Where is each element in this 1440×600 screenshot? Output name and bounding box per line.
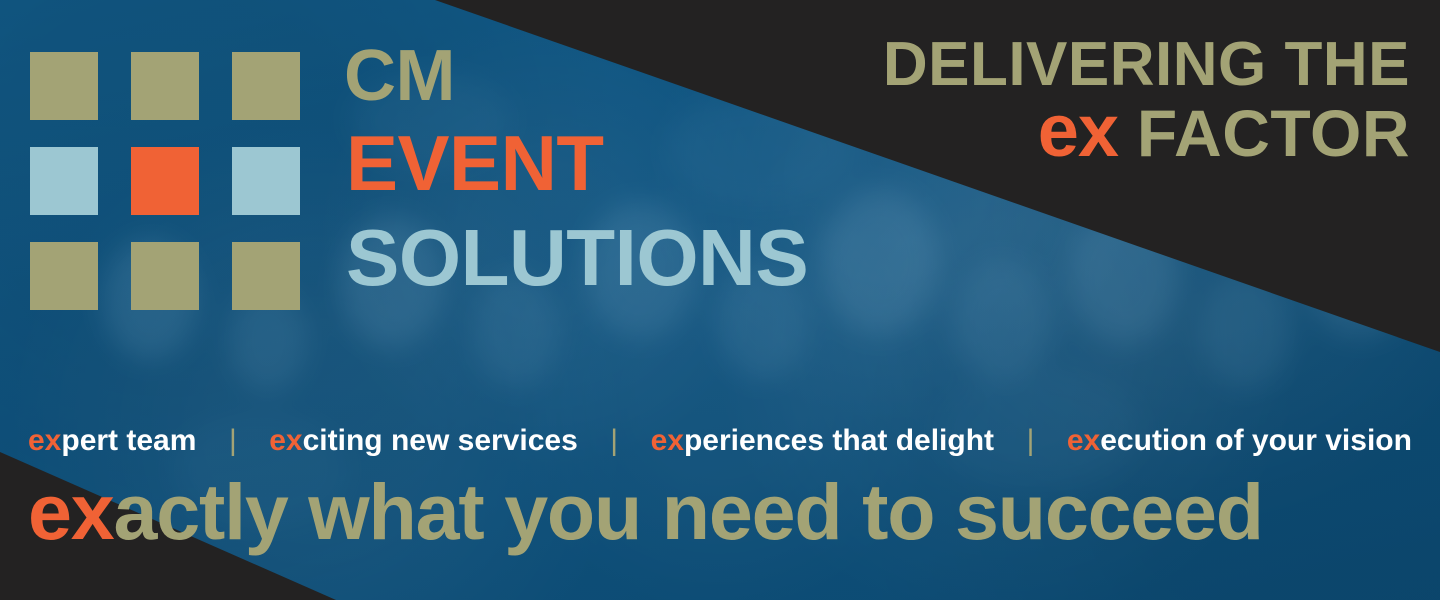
tagline-text-2: citing new services <box>303 424 578 457</box>
headline-exactly-what-you-need-to-succeed: exactly what you need to succeed <box>28 472 1263 551</box>
banner-root: CM EVENT SOLUTIONS DELIVERING THE ex FAC… <box>0 0 1440 600</box>
headline-ex-highlight: ex <box>1038 89 1118 172</box>
tagline-ex-highlight-1: ex <box>28 424 61 457</box>
tagline-separator-3: | <box>1023 424 1039 458</box>
logo-square-r2c2 <box>232 242 300 310</box>
logo-square-r2c0 <box>30 242 98 310</box>
tagline-text-1: pert team <box>61 424 196 457</box>
logo-square-r1c2 <box>232 147 300 215</box>
tagline-item-experiences-that-delight: experiences that delight <box>651 424 994 458</box>
logo-text-event: EVENT <box>346 116 808 210</box>
logo-square-r0c0 <box>30 52 98 120</box>
logo-square-r1c0 <box>30 147 98 215</box>
tagline-text-3: periences that delight <box>684 424 994 457</box>
headline-line-2: ex FACTOR <box>883 99 1410 163</box>
logo-wordmark: CM EVENT SOLUTIONS <box>318 36 808 306</box>
tagline-strip: expert team | exciting new services | ex… <box>28 424 1412 458</box>
logo[interactable]: CM EVENT SOLUTIONS <box>30 52 860 322</box>
logo-square-r2c1 <box>131 242 199 310</box>
logo-square-r0c1 <box>131 52 199 120</box>
logo-square-r1c1 <box>131 147 199 215</box>
logo-text-solutions: SOLUTIONS <box>346 210 808 306</box>
bottom-headline-ex-highlight: ex <box>28 467 113 556</box>
headline-factor-text: FACTOR <box>1118 96 1410 170</box>
tagline-separator-2: | <box>606 424 622 458</box>
tagline-item-exciting-new-services: exciting new services <box>269 424 578 458</box>
logo-square-r0c2 <box>232 52 300 120</box>
tagline-ex-highlight-2: ex <box>269 424 302 457</box>
logo-text-cm: CM <box>344 36 808 116</box>
bottom-headline-text: actly what you need to succeed <box>113 467 1262 556</box>
tagline-ex-highlight-3: ex <box>651 424 684 457</box>
headline-delivering-the-ex-factor: DELIVERING THE ex FACTOR <box>883 38 1410 163</box>
tagline-item-expert-team: expert team <box>28 424 196 458</box>
tagline-item-execution-of-your-vision: execution of your vision <box>1067 424 1412 458</box>
logo-square-grid <box>30 52 302 322</box>
tagline-text-4: ecution of your vision <box>1100 424 1412 457</box>
headline-line-1: DELIVERING THE <box>883 38 1410 91</box>
tagline-separator-1: | <box>225 424 241 458</box>
tagline-ex-highlight-4: ex <box>1067 424 1100 457</box>
